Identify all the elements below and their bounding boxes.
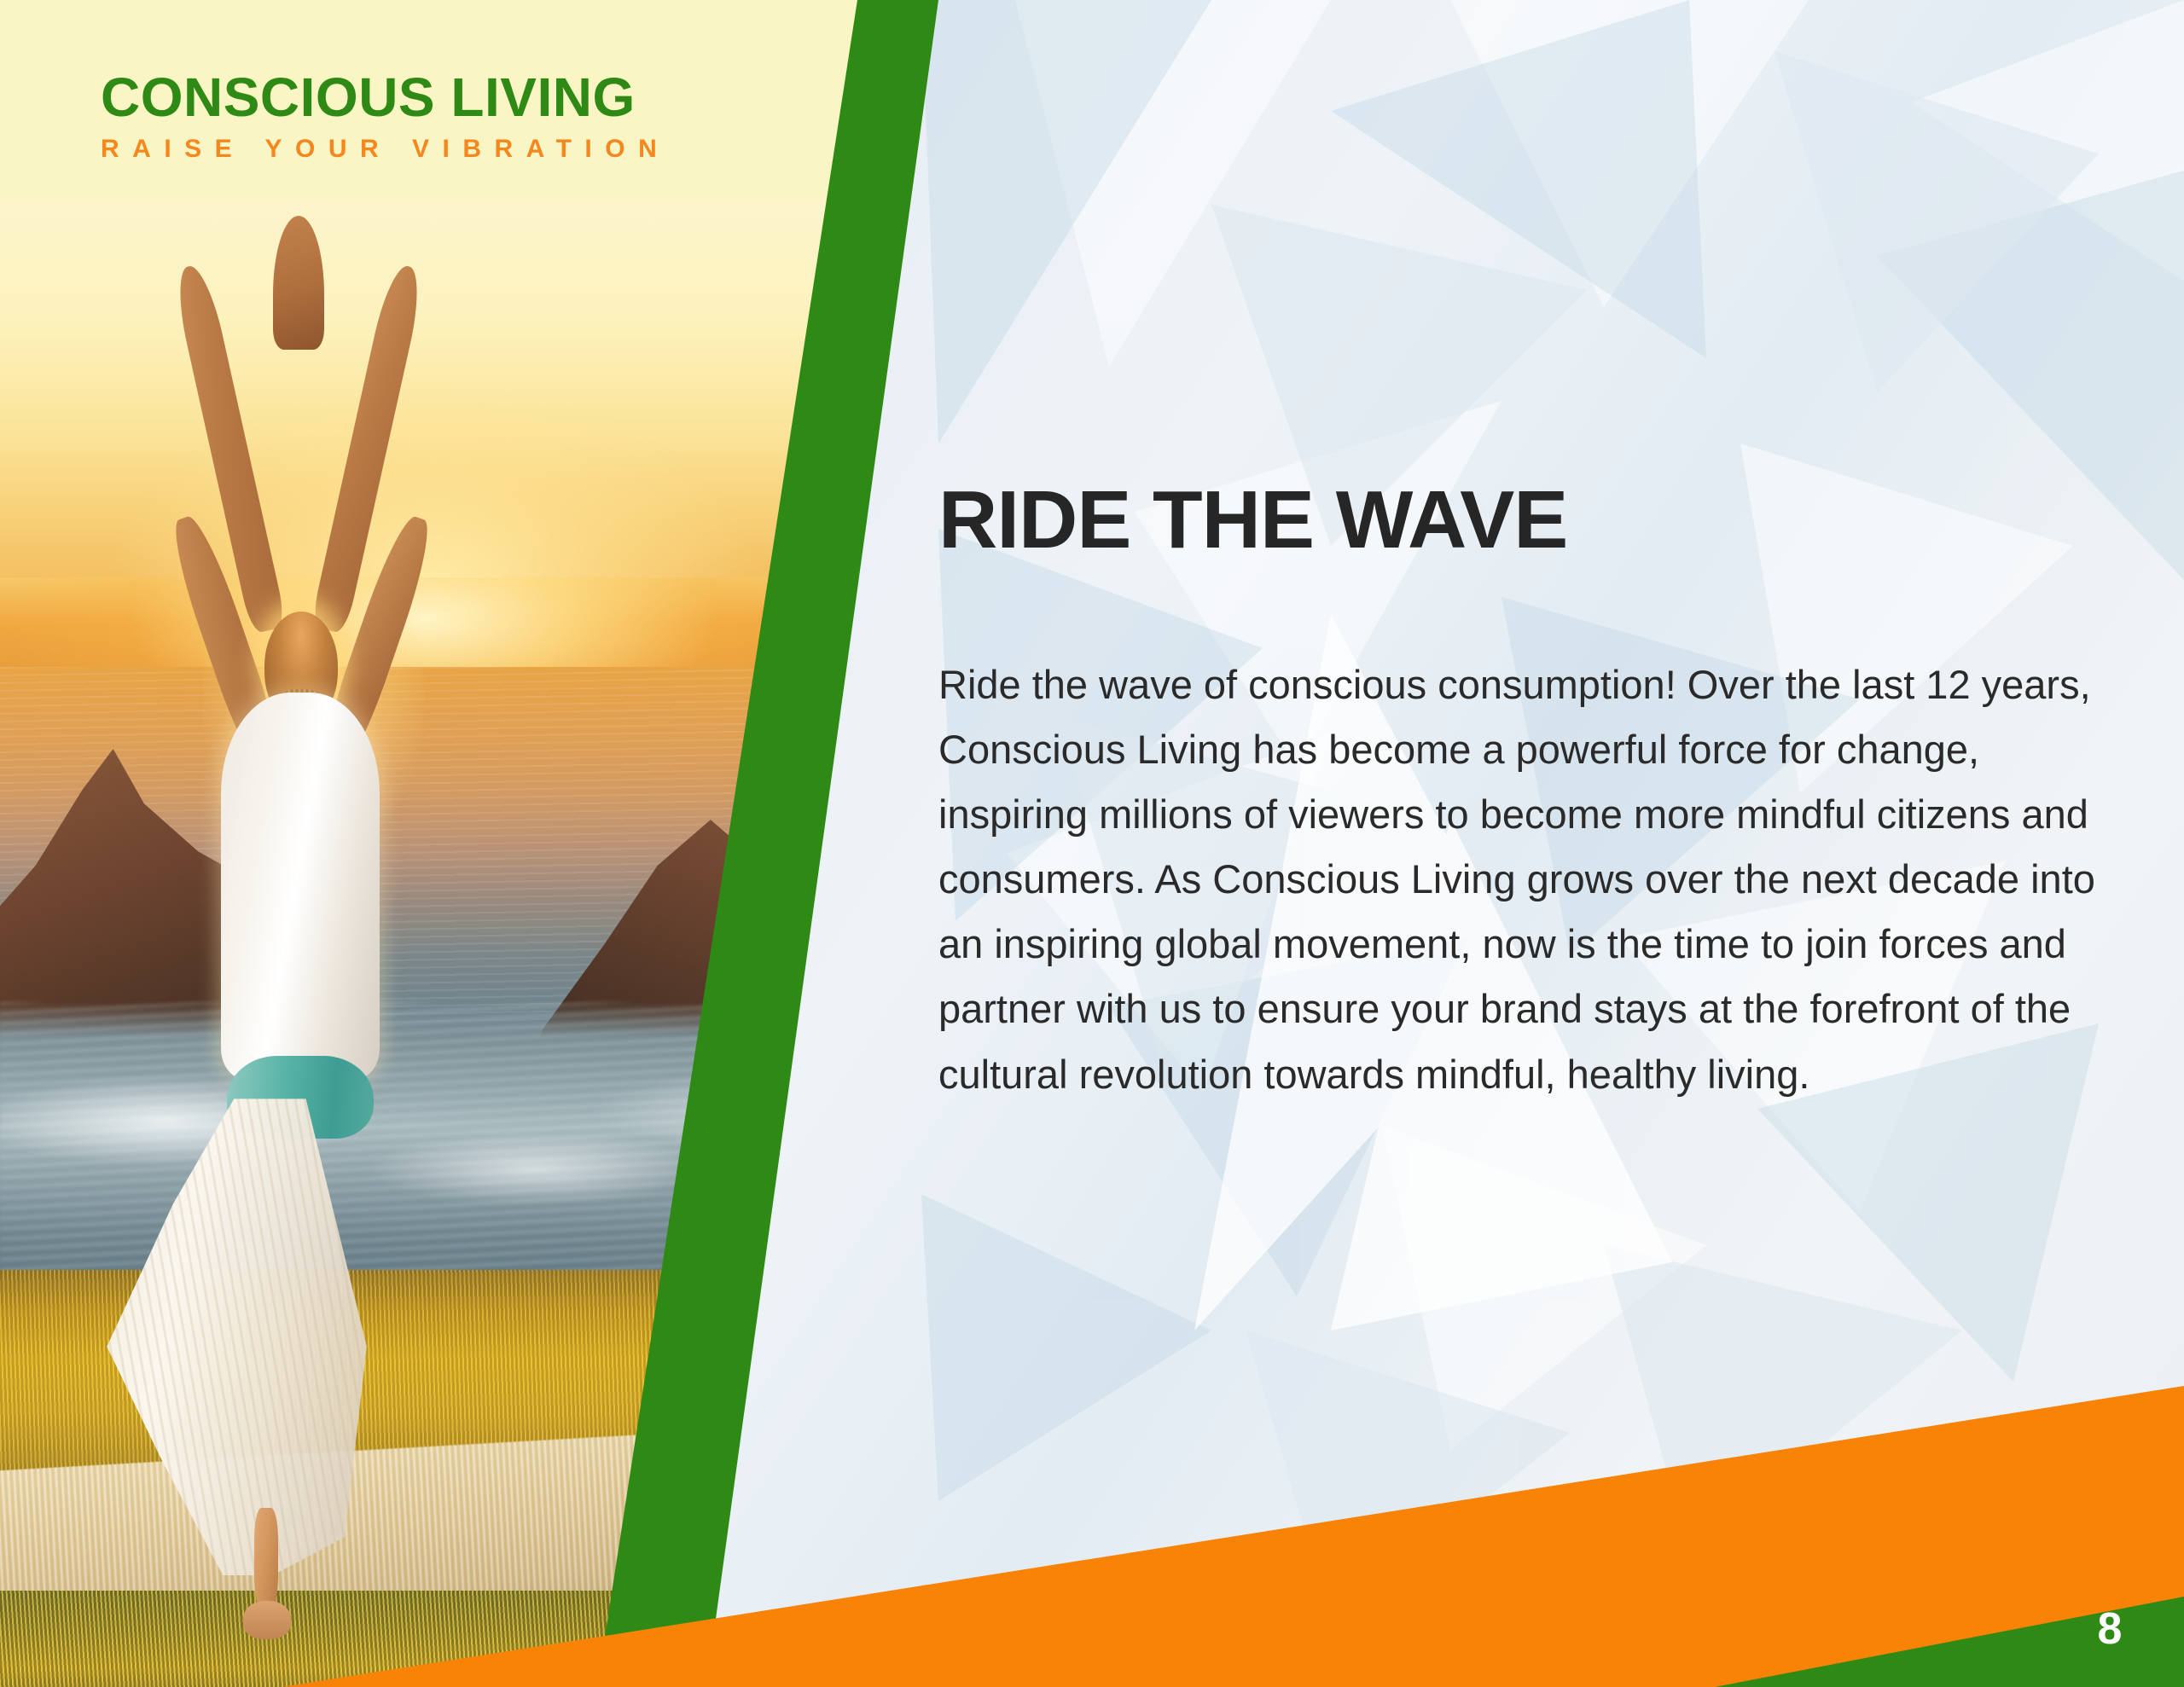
hands-prayer xyxy=(273,216,324,350)
brand-name: CONSCIOUS LIVING xyxy=(101,70,809,125)
brand-tagline: RAISE YOUR VIBRATION xyxy=(101,136,809,162)
body-paragraph: Ride the wave of conscious consumption! … xyxy=(938,652,2133,1107)
page-title: RIDE THE WAVE xyxy=(938,478,2133,564)
slide-canvas: CONSCIOUS LIVING RAISE YOUR VIBRATION RI… xyxy=(0,0,2184,1687)
slide-content: RIDE THE WAVE Ride the wave of conscious… xyxy=(938,478,2133,1107)
skirt xyxy=(102,1099,378,1575)
leg xyxy=(254,1508,278,1615)
foot xyxy=(243,1601,291,1639)
page-number: 8 xyxy=(2080,1607,2140,1651)
brand-logo: CONSCIOUS LIVING RAISE YOUR VIBRATION xyxy=(101,70,809,162)
torso-top xyxy=(221,693,380,1080)
